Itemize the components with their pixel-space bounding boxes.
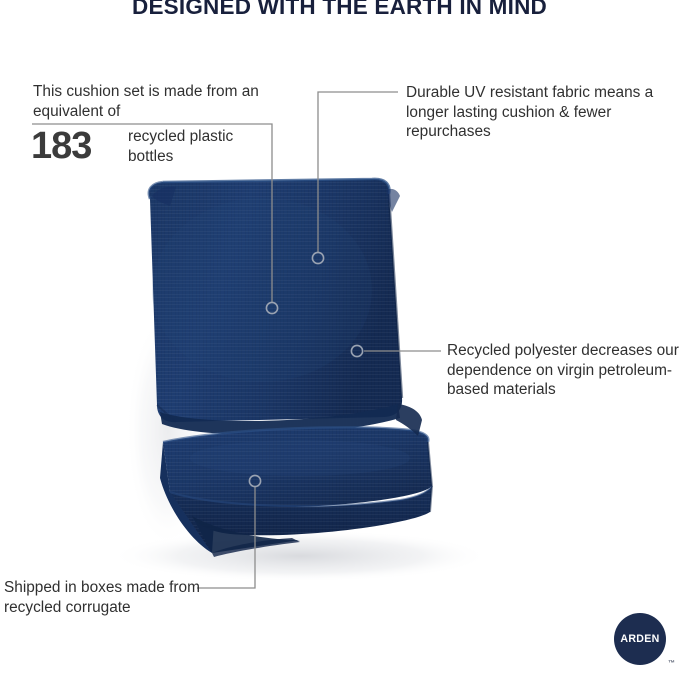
brand-logo: ARDEN ™ [614,613,666,665]
callout-recycled-polyester: Recycled polyester decreases our depende… [447,341,679,400]
brand-wordmark: ARDEN [620,633,659,645]
trademark-symbol: ™ [668,660,675,667]
recycled-bottles-stat: 183 recycled plastic bottles [31,126,281,170]
page-title: DESIGNED WITH THE EARTH IN MIND [0,0,679,20]
callout-bottles-intro: This cushion set is made from an equival… [33,82,283,121]
stat-number: 183 [31,124,91,168]
callout-uv-resistant: Durable UV resistant fabric means a long… [406,83,661,142]
callout-shipping-corrugate: Shipped in boxes made from recycled corr… [4,578,234,617]
infographic-canvas: DESIGNED WITH THE EARTH IN MIND This cus… [0,0,679,675]
stat-label: recycled plastic bottles [128,127,281,166]
brand-logo-circle: ARDEN [614,613,666,665]
